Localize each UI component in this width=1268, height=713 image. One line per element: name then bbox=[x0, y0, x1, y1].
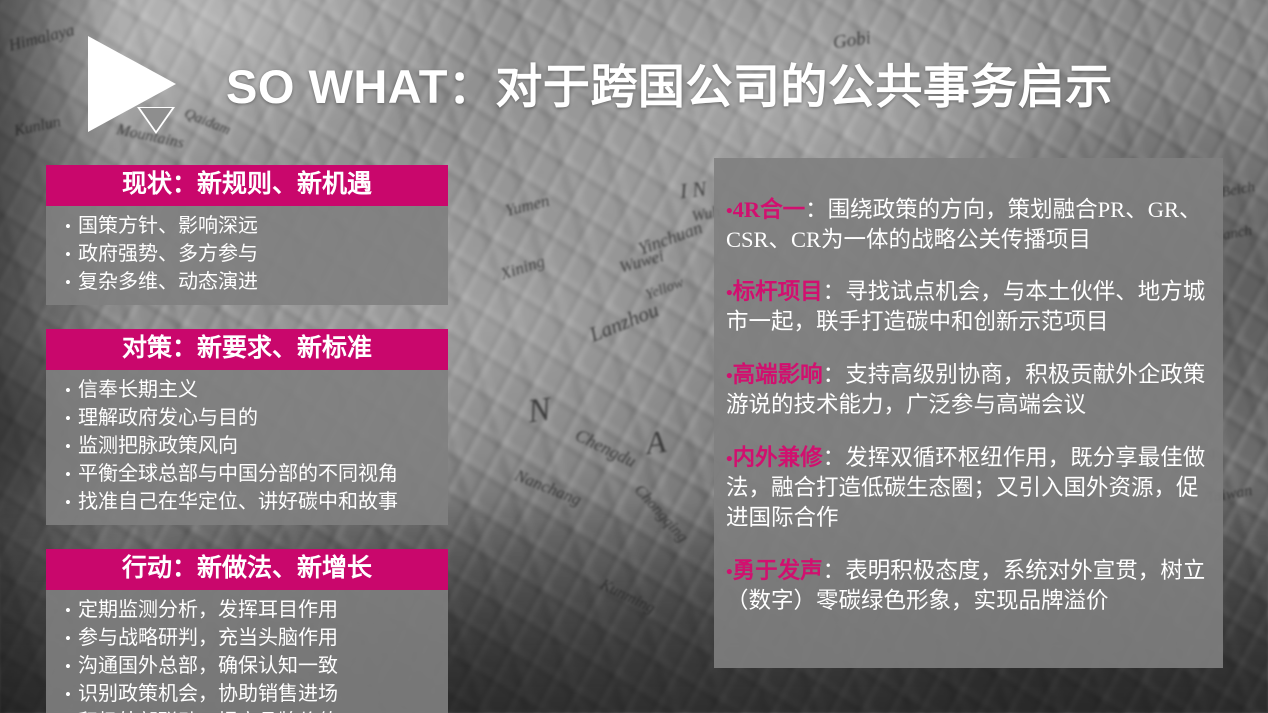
logo-small-triangle-cutout-icon bbox=[140, 108, 172, 131]
left-panel-heading: 对策：新要求、新标准 bbox=[46, 329, 448, 370]
list-item-text: 定期监测分析，发挥耳目作用 bbox=[78, 596, 440, 624]
bullet-dot-icon: • bbox=[58, 407, 78, 431]
list-item: •监测把脉政策风向 bbox=[46, 432, 448, 460]
list-item: •信奉长期主义 bbox=[46, 376, 448, 404]
left-panel: 现状：新规则、新机遇•国策方针、影响深远•政府强势、多方参与•复杂多维、动态演进 bbox=[46, 165, 448, 305]
bullet-dot-icon: • bbox=[58, 599, 78, 623]
list-item-text: 政府强势、多方参与 bbox=[78, 240, 440, 268]
presentation-slide: YumenYinchuanWuweiXiningLanzhouGobiI NWu… bbox=[0, 0, 1268, 713]
recommendation-item: •4R合一：围绕政策的方向，策划融合PR、GR、CSR、CR为一体的战略公关传播… bbox=[726, 195, 1211, 255]
list-item: •识别政策机会，协助销售进场 bbox=[46, 680, 448, 708]
list-item: •平衡全球总部与中国分部的不同视角 bbox=[46, 460, 448, 488]
list-item-text: 信奉长期主义 bbox=[78, 376, 440, 404]
play-triangle-logo-icon bbox=[88, 36, 193, 141]
bullet-dot-icon: • bbox=[726, 283, 733, 304]
list-item-text: 积极外部联动，提高品牌价值 bbox=[78, 708, 440, 713]
list-item-text: 复杂多维、动态演进 bbox=[78, 268, 440, 296]
list-item-text: 理解政府发心与目的 bbox=[78, 404, 440, 432]
recommendation-separator: ： bbox=[823, 279, 846, 304]
list-item-text: 参与战略研判，充当头脑作用 bbox=[78, 624, 440, 652]
bullet-dot-icon: • bbox=[58, 491, 78, 515]
bullet-dot-icon: • bbox=[58, 379, 78, 403]
bullet-dot-icon: • bbox=[726, 449, 733, 470]
recommendation-label: 勇于发声 bbox=[733, 558, 823, 583]
bullet-dot-icon: • bbox=[58, 435, 78, 459]
left-panel-body: •信奉长期主义•理解政府发心与目的•监测把脉政策风向•平衡全球总部与中国分部的不… bbox=[46, 370, 448, 525]
list-item: •沟通国外总部，确保认知一致 bbox=[46, 652, 448, 680]
left-panel-heading: 现状：新规则、新机遇 bbox=[46, 165, 448, 206]
list-item: •找准自己在华定位、讲好碳中和故事 bbox=[46, 488, 448, 516]
list-item-text: 沟通国外总部，确保认知一致 bbox=[78, 652, 440, 680]
list-item-text: 平衡全球总部与中国分部的不同视角 bbox=[78, 460, 440, 488]
recommendation-label: 4R合一 bbox=[733, 197, 806, 222]
left-panel-heading: 行动：新做法、新增长 bbox=[46, 549, 448, 590]
list-item: •国策方针、影响深远 bbox=[46, 212, 448, 240]
left-panel-body: •国策方针、影响深远•政府强势、多方参与•复杂多维、动态演进 bbox=[46, 206, 448, 305]
recommendation-item: •标杆项目：寻找试点机会，与本土伙伴、地方城市一起，联手打造碳中和创新示范项目 bbox=[726, 277, 1211, 337]
list-item: •定期监测分析，发挥耳目作用 bbox=[46, 596, 448, 624]
bullet-dot-icon: • bbox=[58, 215, 78, 239]
left-panel-body: •定期监测分析，发挥耳目作用•参与战略研判，充当头脑作用•沟通国外总部，确保认知… bbox=[46, 590, 448, 713]
bullet-dot-icon: • bbox=[726, 201, 733, 222]
recommendation-label: 内外兼修 bbox=[733, 445, 823, 470]
list-item-text: 监测把脉政策风向 bbox=[78, 432, 440, 460]
recommendation-separator: ： bbox=[823, 445, 846, 470]
recommendation-separator: ： bbox=[823, 362, 846, 387]
list-item: •理解政府发心与目的 bbox=[46, 404, 448, 432]
bullet-dot-icon: • bbox=[58, 463, 78, 487]
list-item-text: 识别政策机会，协助销售进场 bbox=[78, 680, 440, 708]
list-item: •参与战略研判，充当头脑作用 bbox=[46, 624, 448, 652]
slide-title: SO WHAT：对于跨国公司的公共事务启示 bbox=[226, 48, 1113, 117]
left-panel-column: 现状：新规则、新机遇•国策方针、影响深远•政府强势、多方参与•复杂多维、动态演进… bbox=[46, 165, 448, 713]
recommendation-label: 高端影响 bbox=[733, 362, 823, 387]
list-item: •政府强势、多方参与 bbox=[46, 240, 448, 268]
recommendation-item: •勇于发声：表明积极态度，系统对外宣贯，树立（数字）零碳绿色形象，实现品牌溢价 bbox=[726, 556, 1211, 616]
list-item: •复杂多维、动态演进 bbox=[46, 268, 448, 296]
bullet-dot-icon: • bbox=[726, 366, 733, 387]
bullet-dot-icon: • bbox=[58, 655, 78, 679]
recommendation-separator: ： bbox=[823, 558, 846, 583]
list-item-text: 找准自己在华定位、讲好碳中和故事 bbox=[78, 488, 440, 516]
list-item: •积极外部联动，提高品牌价值 bbox=[46, 708, 448, 713]
bullet-dot-icon: • bbox=[58, 627, 78, 651]
recommendation-label: 标杆项目 bbox=[733, 279, 823, 304]
bullet-dot-icon: • bbox=[58, 271, 78, 295]
recommendation-item: •内外兼修：发挥双循环枢纽作用，既分享最佳做法，融合打造低碳生态圈；又引入国外资… bbox=[726, 443, 1211, 533]
bullet-dot-icon: • bbox=[58, 683, 78, 707]
left-panel: 对策：新要求、新标准•信奉长期主义•理解政府发心与目的•监测把脉政策风向•平衡全… bbox=[46, 329, 448, 525]
recommendation-separator: ： bbox=[805, 197, 828, 222]
left-panel: 行动：新做法、新增长•定期监测分析，发挥耳目作用•参与战略研判，充当头脑作用•沟… bbox=[46, 549, 448, 713]
bullet-dot-icon: • bbox=[58, 243, 78, 267]
right-recommendations-panel: •4R合一：围绕政策的方向，策划融合PR、GR、CSR、CR为一体的战略公关传播… bbox=[714, 158, 1223, 668]
recommendation-item: •高端影响：支持高级别协商，积极贡献外企政策游说的技术能力，广泛参与高端会议 bbox=[726, 360, 1211, 420]
list-item-text: 国策方针、影响深远 bbox=[78, 212, 440, 240]
bullet-dot-icon: • bbox=[726, 562, 733, 583]
